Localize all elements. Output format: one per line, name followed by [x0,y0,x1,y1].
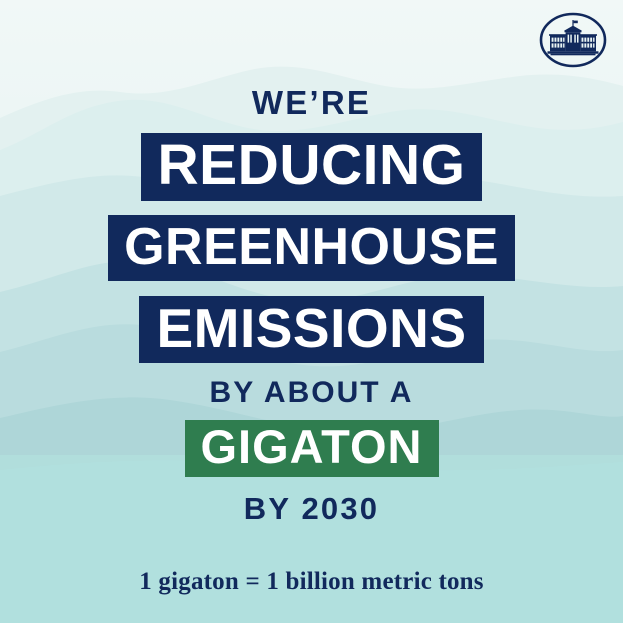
line-by-2030: BY 2030 [0,490,623,528]
line-were: WE’RE [0,83,623,123]
line-by-about-a: BY ABOUT A [0,374,623,412]
white-house-seal-icon [538,11,608,69]
line-by-about-a-text: BY ABOUT A [210,376,414,410]
line-gigaton-text: GIGATON [185,420,439,477]
headline-stack: WE’RE REDUCING GREENHOUSE EMISSIONS BY A… [0,0,623,623]
line-greenhouse-text: GREENHOUSE [108,215,515,281]
graphic-poster: WE’RE REDUCING GREENHOUSE EMISSIONS BY A… [0,0,623,623]
line-reducing: REDUCING [0,133,623,201]
line-emissions-text: EMISSIONS [139,296,483,363]
line-were-text: WE’RE [252,84,371,122]
line-reducing-text: REDUCING [141,133,481,201]
footnote: 1 gigaton = 1 billion metric tons [0,565,623,599]
footnote-text: 1 gigaton = 1 billion metric tons [139,568,483,596]
line-by-2030-text: BY 2030 [244,491,379,527]
line-greenhouse: GREENHOUSE [0,214,623,282]
line-gigaton: GIGATON [0,420,623,476]
line-emissions: EMISSIONS [0,295,623,363]
